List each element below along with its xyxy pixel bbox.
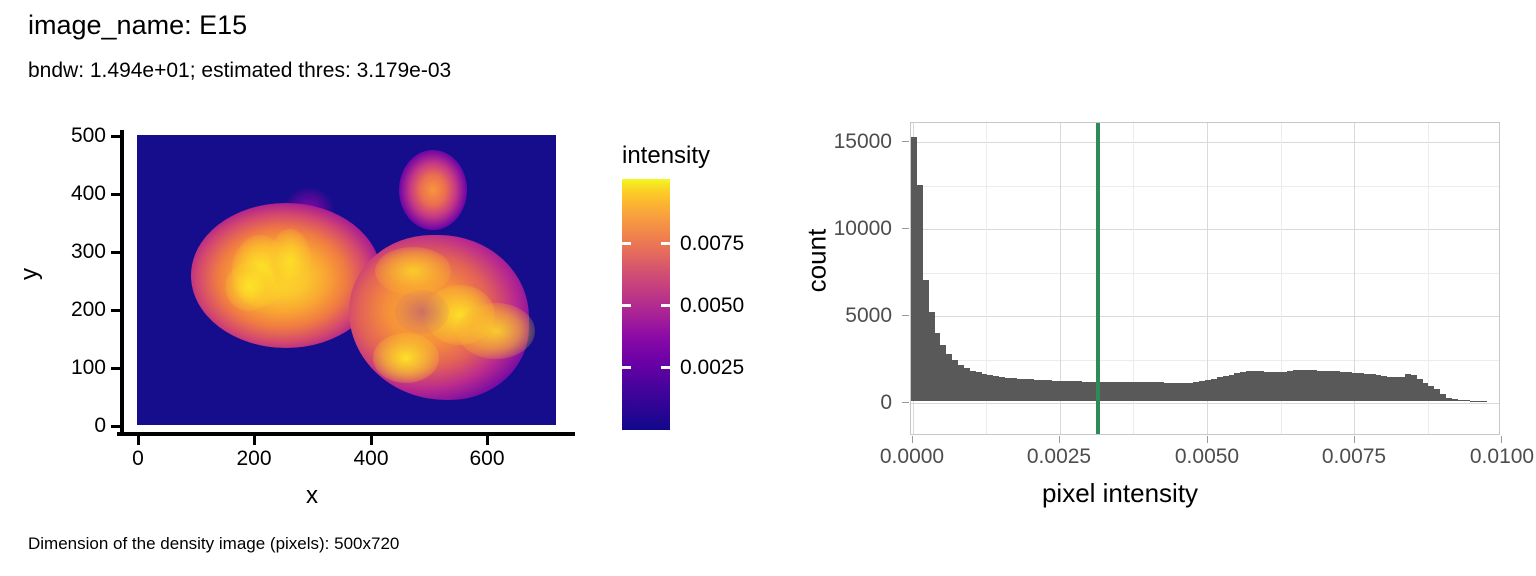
density-x-tick-mark — [486, 436, 489, 445]
intensity-colorbar-legend: intensity 0.0075 0.0050 0.0025 — [614, 130, 804, 430]
histogram-y-tick-label: 15000 — [800, 131, 892, 152]
colorbar-tick-mark — [622, 304, 631, 307]
figure-caption: Dimension of the density image (pixels):… — [28, 533, 399, 554]
histogram-bars — [911, 123, 1499, 434]
density-y-tick-mark — [111, 367, 120, 370]
colorbar-tick-mark — [661, 304, 670, 307]
histogram-y-tick-mark — [902, 315, 909, 316]
histogram-y-tick-label: 0 — [800, 392, 892, 413]
histogram-x-axis-label: pixel intensity — [1042, 478, 1198, 509]
density-x-tick-label: 600 — [447, 448, 527, 469]
density-x-axis-label: x — [306, 482, 318, 510]
density-x-tick-mark — [370, 436, 373, 445]
colorbar-tick-label: 0.0075 — [680, 233, 744, 254]
density-y-tick-mark — [111, 309, 120, 312]
density-y-tick-mark — [111, 135, 120, 138]
density-y-tick-mark — [111, 251, 120, 254]
colorbar-tick-mark — [622, 242, 631, 245]
density-y-tick-label: 100 — [34, 357, 106, 378]
histogram-y-tick-mark — [902, 141, 909, 142]
histogram-y-tick-mark — [902, 402, 909, 403]
density-y-tick-label: 500 — [34, 125, 106, 146]
histogram-x-tick-label: 0.0100 — [1442, 446, 1536, 467]
histogram-x-tick-label: 0.0025 — [999, 446, 1119, 467]
histogram-x-tick-label: 0.0050 — [1147, 446, 1267, 467]
threshold-vline — [1096, 123, 1100, 434]
density-blob-right-lobe-top — [375, 247, 451, 295]
histogram-x-tick-mark — [1207, 436, 1208, 443]
histogram-x-tick-mark — [1501, 436, 1502, 443]
histogram-x-tick-mark — [1059, 436, 1060, 443]
density-y-tick-label: 400 — [34, 183, 106, 204]
density-blob-right-lobe-bottom — [373, 333, 439, 383]
density-blob-right-lobe-right — [457, 303, 535, 359]
density-x-tick-label: 400 — [331, 448, 411, 469]
density-x-tick-mark — [137, 436, 140, 445]
density-y-axis-line — [120, 130, 124, 433]
density-blob-left-core-b — [269, 229, 311, 293]
histogram-x-tick-label: 0.0000 — [852, 446, 972, 467]
colorbar-tick-mark — [622, 366, 631, 369]
density-y-tick-mark — [111, 425, 120, 428]
colorbar-tick-label: 0.0050 — [680, 295, 744, 316]
histogram-x-tick-mark — [1354, 436, 1355, 443]
density-x-tick-label: 200 — [214, 448, 294, 469]
histogram-panel: count pixel intensity 15000 10000 5000 0… — [790, 110, 1536, 510]
density-blob-small-top — [399, 150, 467, 230]
density-y-tick-label: 300 — [34, 241, 106, 262]
colorbar-tick-label: 0.0025 — [680, 357, 744, 378]
density-blob-right-dim-center — [395, 290, 449, 334]
histogram-y-tick-label: 5000 — [800, 305, 892, 326]
histogram-y-tick-label: 10000 — [800, 218, 892, 239]
density-x-axis-line — [117, 432, 575, 436]
page-subtitle: bndw: 1.494e+01; estimated thres: 3.179e… — [28, 58, 451, 83]
histogram-y-tick-mark — [902, 228, 909, 229]
histogram-x-tick-mark — [912, 436, 913, 443]
density-x-tick-label: 0 — [98, 448, 178, 469]
density-x-tick-mark — [253, 436, 256, 445]
density-y-tick-mark — [111, 193, 120, 196]
histogram-x-tick-label: 0.0075 — [1294, 446, 1414, 467]
legend-title: intensity — [622, 142, 710, 170]
page-title: image_name: E15 — [28, 9, 247, 41]
density-blob-left-core-c — [225, 263, 273, 311]
colorbar-tick-mark — [661, 366, 670, 369]
density-y-tick-label: 0 — [34, 415, 106, 436]
density-y-tick-label: 200 — [34, 299, 106, 320]
density-heatmap-image — [137, 135, 556, 425]
histogram-plot-area — [910, 122, 1500, 435]
colorbar-tick-mark — [661, 242, 670, 245]
density-image-panel: y x 500 400 300 200 100 0 0 200 400 600 — [0, 110, 620, 510]
